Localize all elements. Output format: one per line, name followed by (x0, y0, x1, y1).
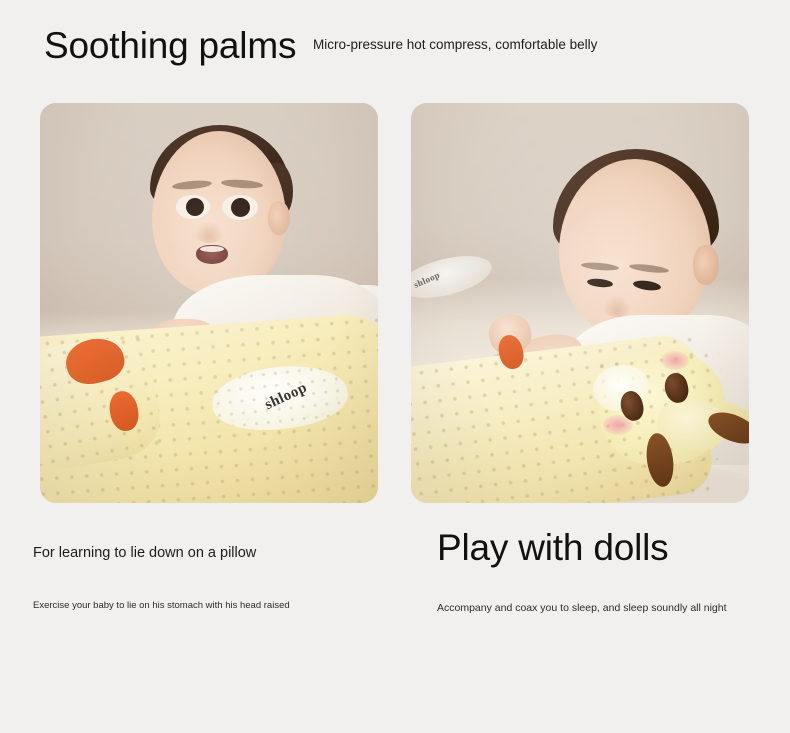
photo-vignette-right (411, 103, 749, 503)
page-subtitle: Micro-pressure hot compress, comfortable… (313, 36, 597, 54)
caption-group: For learning to lie down on a pillow Exe… (0, 503, 790, 733)
caption-title-right: Play with dolls (437, 525, 668, 571)
page-header: Soothing palms Micro-pressure hot compre… (0, 0, 790, 100)
page-title: Soothing palms (44, 24, 296, 68)
caption-subtitle-left: Exercise your baby to lie on his stomach… (33, 599, 290, 613)
photo-vignette-left (40, 103, 378, 503)
caption-title-left: For learning to lie down on a pillow (33, 543, 256, 563)
caption-subtitle-right: Accompany and coax you to sleep, and sle… (437, 601, 727, 616)
photo-panel-group: shloop shloop (0, 103, 790, 503)
baby-lying-on-pillow-photo[interactable]: shloop (40, 103, 378, 503)
baby-playing-with-doll-photo[interactable]: shloop (411, 103, 749, 503)
